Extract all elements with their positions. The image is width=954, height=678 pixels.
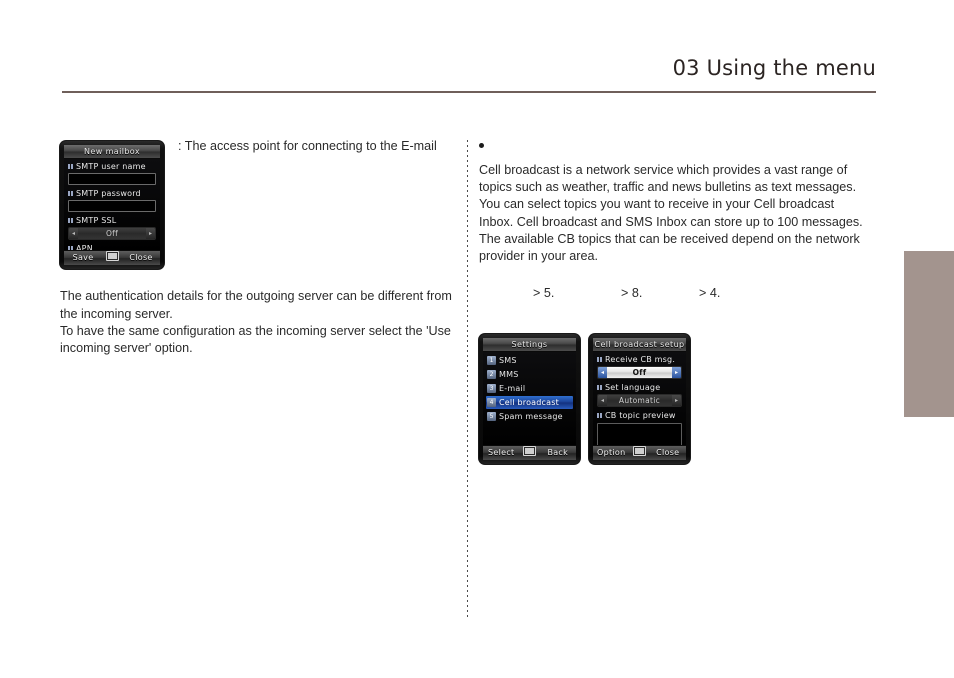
chevron-left-icon[interactable]: ◂ bbox=[69, 228, 78, 239]
field-label-receive-cb-msg: Receive CB msg. bbox=[596, 354, 683, 365]
menu-number: 5 bbox=[487, 412, 496, 421]
phone-screen: New mailbox SMTP user name SMTP password… bbox=[64, 145, 160, 265]
softkey-bar: Select Back bbox=[483, 445, 576, 460]
receive-cb-msg-spinner[interactable]: ◂ Off ▸ bbox=[597, 366, 682, 379]
phone-screenshot-cell-broadcast-setup: Cell broadcast setup Receive CB msg. ◂ O… bbox=[589, 334, 690, 464]
softkey-save[interactable]: Save bbox=[64, 251, 102, 265]
cell-broadcast-bullet bbox=[479, 138, 871, 162]
chevron-right-icon[interactable]: ▸ bbox=[672, 367, 681, 378]
menu-item-label: MMS bbox=[499, 370, 518, 379]
smtp-password-input[interactable] bbox=[68, 200, 156, 212]
phone-screen: Settings 1 SMS 2 MMS 3 E-mail 4 Cell bro… bbox=[483, 338, 576, 460]
settings-menu-list: 1 SMS 2 MMS 3 E-mail 4 Cell broadcast 5 … bbox=[483, 352, 576, 446]
field-label-set-language: Set language bbox=[596, 382, 683, 393]
chevron-right-icon[interactable]: ▸ bbox=[146, 228, 155, 239]
cell-broadcast-inbox-paragraph: You can select topics you want to receiv… bbox=[479, 196, 871, 230]
new-mailbox-form: SMTP user name SMTP password SMTP SSL ◂ … bbox=[64, 159, 160, 251]
use-incoming-server-paragraph: To have the same configuration as the in… bbox=[60, 323, 460, 357]
menu-path-line: > 5.> 8.> 4. bbox=[479, 266, 871, 320]
phone-screenshot-settings: Settings 1 SMS 2 MMS 3 E-mail 4 Cell bro… bbox=[479, 334, 580, 464]
menu-number: 1 bbox=[487, 356, 496, 365]
chevron-left-icon[interactable]: ◂ bbox=[598, 367, 607, 378]
menu-path-step-1: > 5. bbox=[533, 284, 621, 302]
set-language-value: Automatic bbox=[607, 395, 672, 406]
chevron-right-icon[interactable]: ▸ bbox=[672, 395, 681, 406]
screen-title-cell-broadcast-setup: Cell broadcast setup bbox=[593, 338, 686, 352]
side-tab-marker bbox=[904, 251, 954, 417]
cb-topics-paragraph: The available CB topics that can be rece… bbox=[479, 231, 871, 265]
column-divider bbox=[467, 140, 468, 618]
softkey-bar: Option Close bbox=[593, 445, 686, 460]
set-language-spinner[interactable]: ◂ Automatic ▸ bbox=[597, 394, 682, 407]
menu-number: 3 bbox=[487, 384, 496, 393]
field-label-smtp-ssl: SMTP SSL bbox=[67, 215, 157, 226]
field-label-smtp-user-name: SMTP user name bbox=[67, 161, 157, 172]
menu-item-label: E-mail bbox=[499, 384, 525, 393]
menu-item-label: SMS bbox=[499, 356, 517, 365]
menu-item-label: Spam message bbox=[499, 412, 563, 421]
smtp-ssl-value: Off bbox=[78, 228, 146, 239]
softkey-select[interactable]: Select bbox=[483, 446, 520, 460]
softkey-close[interactable]: Close bbox=[122, 251, 160, 265]
menu-item-email[interactable]: 3 E-mail bbox=[486, 382, 573, 395]
chevron-left-icon[interactable]: ◂ bbox=[598, 395, 607, 406]
smtp-user-name-input[interactable] bbox=[68, 173, 156, 185]
field-label-smtp-password: SMTP password bbox=[67, 188, 157, 199]
message-icon[interactable] bbox=[102, 251, 122, 265]
menu-item-spam-message[interactable]: 5 Spam message bbox=[486, 410, 573, 423]
bullet-dot-icon bbox=[479, 143, 484, 148]
outgoing-server-paragraph: The authentication details for the outgo… bbox=[60, 288, 460, 322]
softkey-option[interactable]: Option bbox=[593, 446, 630, 460]
message-icon[interactable] bbox=[630, 446, 650, 460]
receive-cb-msg-value: Off bbox=[607, 367, 672, 378]
softkey-back[interactable]: Back bbox=[540, 446, 577, 460]
smtp-ssl-spinner[interactable]: ◂ Off ▸ bbox=[68, 227, 156, 240]
menu-item-label: Cell broadcast bbox=[499, 398, 559, 407]
softkey-close[interactable]: Close bbox=[650, 446, 687, 460]
cell-broadcast-setup-form: Receive CB msg. ◂ Off ▸ Set language ◂ A… bbox=[593, 352, 686, 446]
page-title: 03 Using the menu bbox=[673, 56, 876, 80]
menu-path-step-3: > 4. bbox=[699, 284, 720, 302]
screen-title-new-mailbox: New mailbox bbox=[64, 145, 160, 159]
message-icon[interactable] bbox=[520, 446, 540, 460]
phone-screenshot-new-mailbox: New mailbox SMTP user name SMTP password… bbox=[60, 141, 164, 269]
field-label-cb-topic-preview: CB topic preview bbox=[596, 410, 683, 421]
menu-item-cell-broadcast[interactable]: 4 Cell broadcast bbox=[486, 396, 573, 409]
header-divider-rule bbox=[62, 91, 876, 93]
menu-path-step-2: > 8. bbox=[621, 284, 699, 302]
phone-screen: Cell broadcast setup Receive CB msg. ◂ O… bbox=[593, 338, 686, 460]
menu-number: 2 bbox=[487, 370, 496, 379]
menu-item-sms[interactable]: 1 SMS bbox=[486, 354, 573, 367]
cell-broadcast-description: Cell broadcast is a network service whic… bbox=[479, 162, 871, 196]
menu-item-mms[interactable]: 2 MMS bbox=[486, 368, 573, 381]
softkey-bar: Save Close bbox=[64, 250, 160, 265]
menu-number: 4 bbox=[487, 398, 496, 407]
page-header: 03 Using the menu bbox=[62, 56, 876, 94]
right-column: Cell broadcast is a network service whic… bbox=[479, 138, 871, 320]
screen-title-settings: Settings bbox=[483, 338, 576, 352]
